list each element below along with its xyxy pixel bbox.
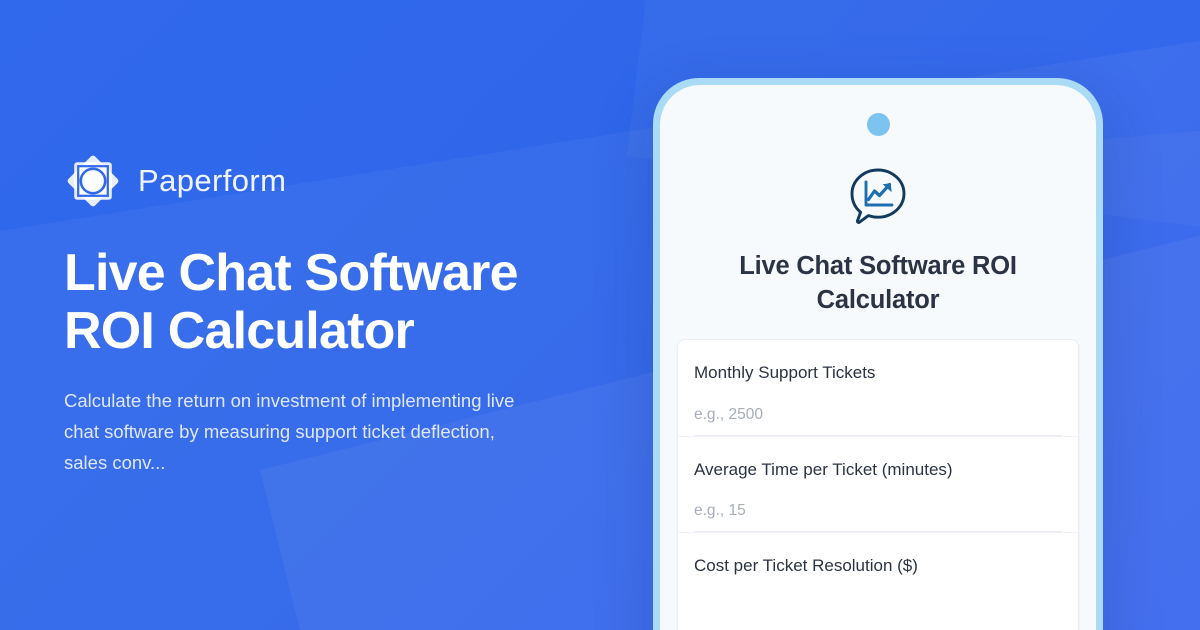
- field-label: Cost per Ticket Resolution ($): [694, 555, 1062, 576]
- average-time-per-ticket-input[interactable]: e.g., 15: [694, 502, 1062, 532]
- phone-mockup: Live Chat Software ROI Calculator Monthl…: [653, 78, 1103, 630]
- paperform-star-logo-icon: [64, 152, 122, 210]
- chat-bubble-growth-chart-icon: [846, 164, 910, 228]
- app-title: Live Chat Software ROI Calculator: [694, 250, 1062, 317]
- field-label: Average Time per Ticket (minutes): [694, 459, 1062, 480]
- field-label: Monthly Support Tickets: [694, 362, 1062, 383]
- form-field[interactable]: Monthly Support Tickets e.g., 2500: [678, 340, 1078, 436]
- form-field[interactable]: Average Time per Ticket (minutes) e.g., …: [678, 437, 1078, 533]
- form-field[interactable]: Cost per Ticket Resolution ($): [678, 533, 1078, 576]
- page-title: Live Chat Software ROI Calculator: [64, 244, 534, 360]
- form-card: Monthly Support Tickets e.g., 2500 Avera…: [677, 339, 1079, 630]
- brand-name: Paperform: [138, 165, 286, 196]
- camera-dot-icon: [867, 113, 890, 136]
- og-card: Paperform Live Chat Software ROI Calcula…: [0, 0, 1200, 630]
- phone-screen: Live Chat Software ROI Calculator Monthl…: [660, 85, 1096, 630]
- brand-lockup: Paperform: [64, 152, 584, 210]
- page-subtitle: Calculate the return on investment of im…: [64, 386, 529, 478]
- hero-content: Paperform Live Chat Software ROI Calcula…: [64, 0, 584, 630]
- monthly-support-tickets-input[interactable]: e.g., 2500: [694, 406, 1062, 436]
